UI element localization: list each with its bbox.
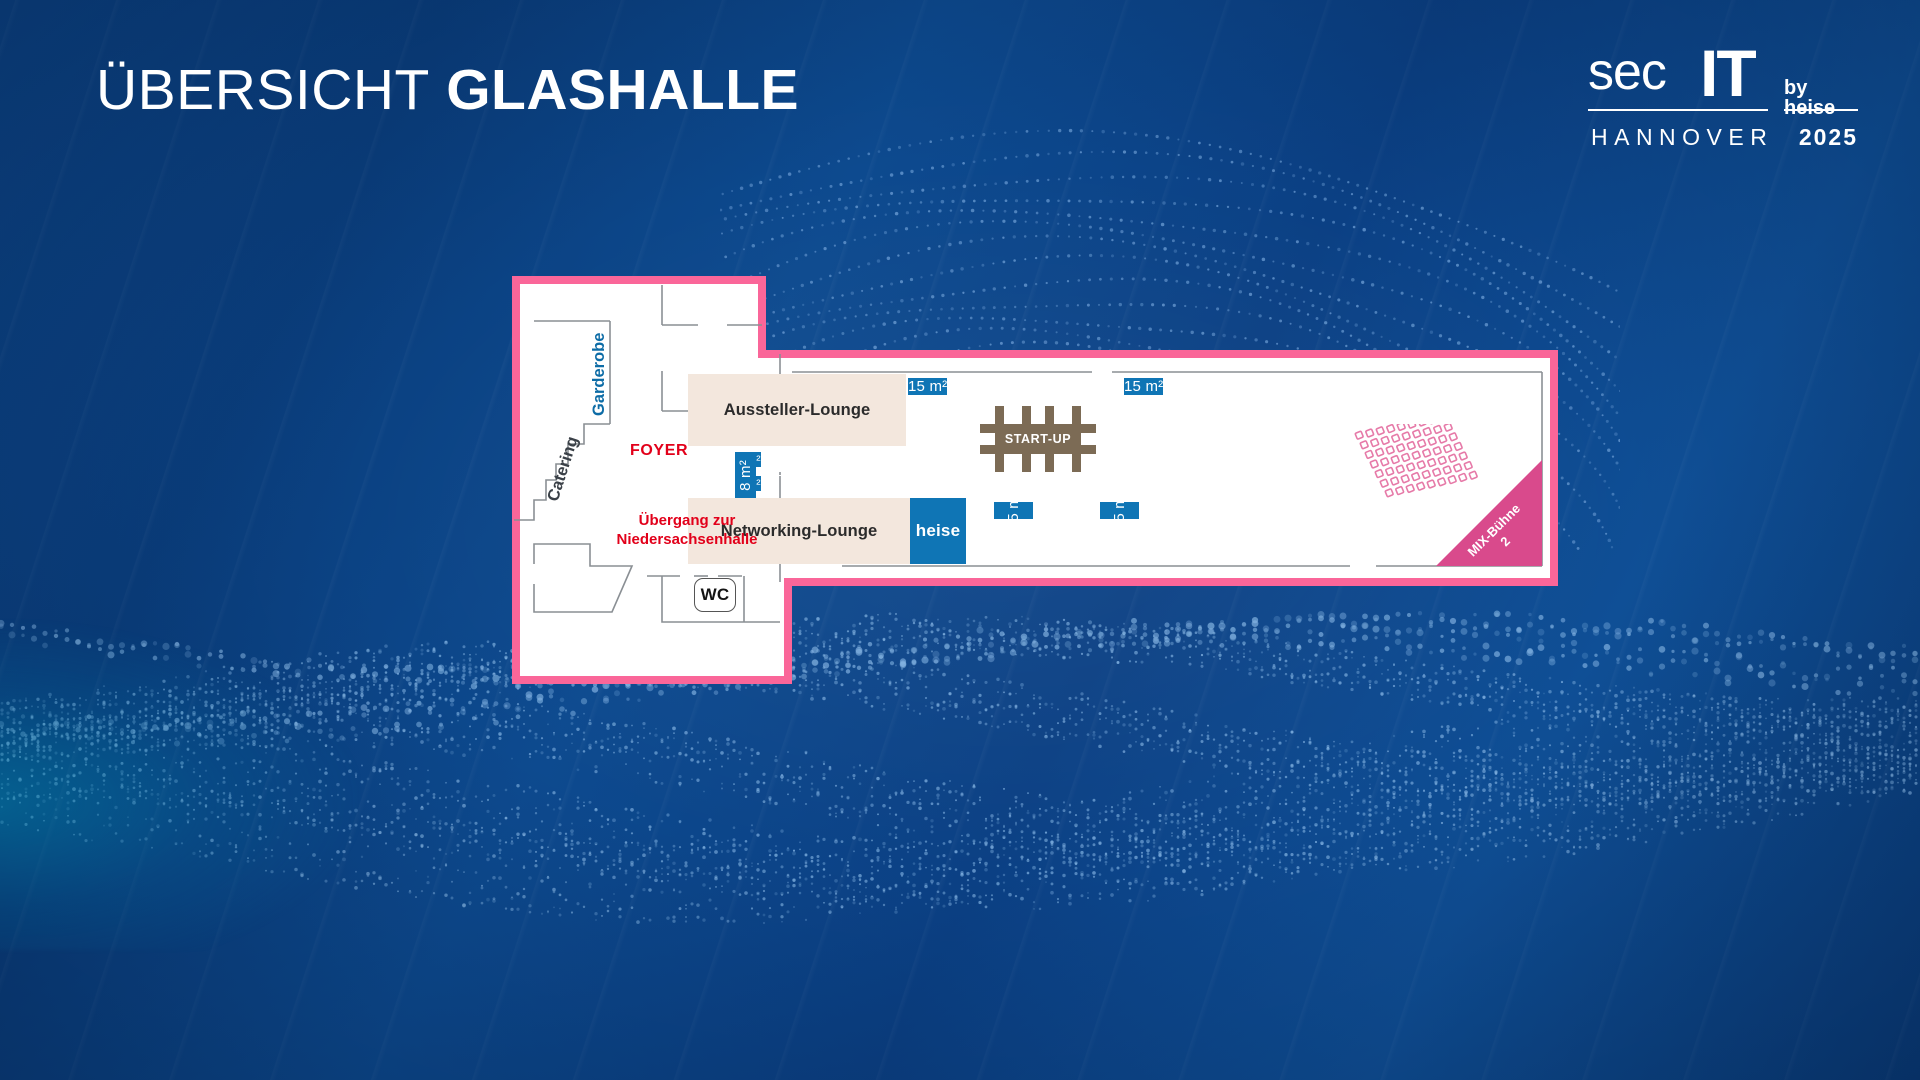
booth-label: 15 m² [908, 378, 947, 395]
booth-label: 15 m² [1124, 378, 1163, 395]
logo-city: HANNOVER [1591, 124, 1773, 151]
booth-label: heise [916, 521, 960, 541]
logo-subtitle: HANNOVER 2025 [1591, 124, 1858, 151]
startup-label: START-UP [1005, 432, 1071, 446]
booth-group-bottom-b: 15 m² 15 m² [1100, 502, 1164, 564]
label-uebergang: Übergang zur Niedersachsenhalle [592, 512, 782, 550]
booth-group-8qm-block: 8 m² 8 m² 8 m² 8 m² 8 m² 8 m² [734, 452, 922, 498]
logo-it-text: IT [1700, 40, 1755, 106]
booth-group-bottom-a: 15 m² 15 m² [994, 502, 1058, 564]
logo-year: 2025 [1799, 124, 1858, 151]
booth-label: 15 m² [1111, 491, 1128, 530]
wc-label: WC [701, 585, 730, 605]
floor-plan: Aussteller-Lounge Networking-Lounge 15 m… [512, 276, 1558, 804]
mix-stage-line2: 2 [1497, 534, 1513, 550]
booth-label: 15 m² [1005, 491, 1022, 530]
booth-15qm[interactable]: 15 m² [908, 378, 947, 395]
label-foyer: FOYER [630, 442, 688, 460]
lounge-aussteller[interactable]: Aussteller-Lounge [688, 374, 906, 446]
logo-rule-right [1784, 109, 1858, 111]
label-garderobe: Garderobe [590, 333, 609, 416]
page-title: ÜBERSICHT GLASHALLE [96, 62, 799, 119]
page-title-bold: GLASHALLE [446, 58, 799, 122]
mix-stage-area[interactable]: MIX-Bühne 2 [1350, 424, 1542, 566]
booth-8qm-right-cap[interactable]: 8 m² [734, 452, 756, 498]
booth-15qm[interactable]: 15 m² [1100, 502, 1139, 519]
logo-rule-left [1588, 109, 1768, 111]
logo-sec-text: sec [1588, 46, 1666, 98]
lounge-aussteller-label: Aussteller-Lounge [724, 401, 871, 420]
booth-group-top-right: 15 m² 15 m² 15 m² [1124, 378, 1268, 418]
wc-icon[interactable]: WC [694, 578, 736, 612]
logo-wordmark: sec IT by heise [1588, 44, 1858, 110]
booth-heise[interactable]: heise [910, 498, 966, 564]
page-title-thin: ÜBERSICHT [96, 58, 430, 122]
booth-15qm[interactable]: 15 m² [994, 502, 1033, 519]
logo-byline: by heise [1784, 78, 1858, 118]
secit-logo: sec IT by heise HANNOVER 2025 [1588, 44, 1858, 156]
booth-label: 8 m² [737, 460, 754, 491]
booth-15qm[interactable]: 15 m² [1124, 378, 1163, 395]
startup-area[interactable]: START-UP [980, 406, 1096, 472]
